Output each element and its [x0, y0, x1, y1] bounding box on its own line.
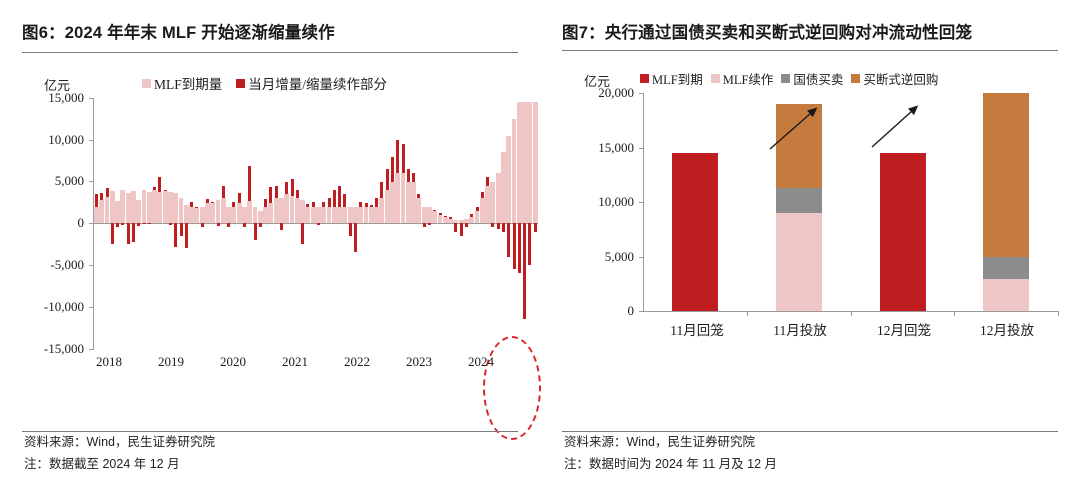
- fig6-bar-pink: [284, 194, 289, 223]
- fig6-bar-pink: [385, 190, 390, 223]
- fig7-title: 图7：央行通过国债买卖和买断式逆回购对冲流动性回笼: [562, 0, 1058, 44]
- fig6-bar-darkred: [143, 223, 146, 224]
- fig6-bar-darkred: [232, 202, 235, 207]
- fig6-bar-darkred: [412, 173, 415, 181]
- fig6-bar-darkred: [106, 188, 109, 196]
- fig6-bar-pink: [469, 217, 474, 224]
- fig6-xtick-label-5: 2023: [389, 354, 449, 370]
- fig6-bar-darkred: [333, 190, 336, 207]
- fig6-bar-pink: [422, 207, 427, 224]
- fig6-bar-pink: [321, 207, 326, 224]
- fig6-bar-pink: [237, 203, 242, 223]
- fig6-bar-pink: [300, 200, 305, 223]
- fig6-xtick-label-2: 2020: [203, 354, 263, 370]
- fig6-bar-darkred: [306, 204, 309, 207]
- fig6-bar-darkred: [486, 177, 489, 185]
- fig6-bar-darkred: [513, 223, 516, 269]
- fig7-xtick-label-2: 12月回笼: [857, 319, 951, 339]
- fig6-bar-darkred: [180, 223, 183, 236]
- fig6-bar-darkred: [428, 223, 431, 225]
- fig6-bar-pink: [332, 207, 337, 224]
- fig6-bar-darkred: [491, 223, 494, 227]
- fig6-bar-pink: [290, 196, 295, 224]
- fig6-bar-pink: [316, 207, 321, 224]
- fig6-bar-darkred: [201, 223, 204, 226]
- fig6-bar-pink: [401, 173, 406, 223]
- fig6-bar-darkred: [354, 223, 357, 252]
- fig6-bar-pink: [205, 203, 210, 223]
- fig6-bar-darkred: [386, 169, 389, 190]
- fig6-bar-pink: [311, 207, 316, 224]
- fig6-bar-pink: [416, 198, 421, 223]
- fig6-bar-pink: [443, 217, 448, 224]
- fig6-bar-pink: [522, 102, 527, 223]
- fig6-bar-darkred: [444, 216, 447, 217]
- fig6-bar-darkred: [481, 192, 484, 199]
- fig7-xtick-label-0: 11月回笼: [650, 319, 744, 339]
- fig6-bar-pink: [432, 211, 437, 224]
- fig7-footer: 资料来源：Wind，民生证券研究院 注：数据时间为 2024 年 11 月及 1…: [562, 431, 1058, 476]
- fig6-bar-darkred: [375, 198, 378, 206]
- fig6-bar-pink: [533, 102, 538, 223]
- fig6-bar-darkred: [396, 140, 399, 173]
- fig6-bar-pink: [506, 136, 511, 224]
- fig6-bar-darkred: [312, 202, 315, 206]
- fig6-bar-pink: [142, 190, 147, 223]
- fig6-xtick-label-1: 2019: [141, 354, 201, 370]
- fig6-bar-darkred: [296, 190, 299, 198]
- fig6-bar-darkred: [338, 186, 341, 207]
- fig6-bar-darkred: [132, 223, 135, 241]
- fig6-bar-pink: [120, 190, 125, 223]
- fig6-bar-pink: [242, 207, 247, 223]
- panel-fig6: 图6：2024 年年末 MLF 开始逐渐缩量续作 亿元 MLF到期量 当月增量/…: [0, 0, 540, 484]
- fig7-note: 注：数据时间为 2024 年 11 月及 12 月: [562, 454, 1058, 476]
- figure-sheet: 图6：2024 年年末 MLF 开始逐渐缩量续作 亿元 MLF到期量 当月增量/…: [0, 0, 1080, 484]
- fig6-bar-pink: [94, 207, 99, 224]
- panel-fig7: 图7：央行通过国债买卖和买断式逆回购对冲流动性回笼 亿元 MLF到期 MLF续作…: [540, 0, 1080, 484]
- fig6-bar-darkred: [439, 213, 442, 215]
- fig6-bar-pink: [200, 207, 205, 224]
- fig6-bar-darkred: [164, 190, 167, 191]
- fig6-bar-darkred: [507, 223, 510, 256]
- fig6-bar-darkred: [285, 182, 288, 195]
- fig6-bar-darkred: [407, 169, 410, 182]
- fig6-bar-darkred: [280, 223, 283, 230]
- fig6-bar-darkred: [211, 202, 214, 204]
- fig6-bar-darkred: [328, 198, 331, 206]
- fig6-bar-pink: [427, 207, 432, 224]
- fig6-bar-pink: [485, 186, 490, 224]
- fig6-bar-pink: [390, 182, 395, 224]
- fig6-bar-pink: [268, 203, 273, 223]
- fig6-note: 注：数据截至 2024 年 12 月: [22, 454, 518, 476]
- fig6-bar-darkred: [248, 166, 251, 201]
- fig6-bar-pink: [258, 211, 263, 224]
- fig6-bar-darkred: [264, 199, 267, 207]
- fig6-bar-pink: [490, 182, 495, 224]
- fig6-bar-darkred: [322, 202, 325, 206]
- fig6-bar-darkred: [222, 186, 225, 199]
- fig6-bar-darkred: [476, 207, 479, 211]
- fig6-bar-pink: [253, 207, 258, 224]
- fig6-bar-pink: [184, 205, 189, 223]
- fig6-bar-pink: [231, 207, 236, 224]
- fig6-bar-pink: [131, 191, 136, 224]
- fig6-bar-darkred: [370, 205, 373, 207]
- fig7-chart: 亿元 MLF到期 MLF续作 国债买卖 买断式逆回购: [562, 51, 1058, 391]
- fig6-bar-pink: [168, 192, 173, 223]
- fig6-bar-pink: [274, 198, 279, 223]
- fig6-bar-darkred: [465, 223, 468, 227]
- fig6-bar-darkred: [534, 223, 537, 231]
- fig7-xtick-label-3: 12月投放: [960, 319, 1054, 339]
- fig6-bar-pink: [305, 207, 310, 224]
- fig6-bar-pink: [448, 219, 453, 223]
- fig6-bar-darkred: [470, 214, 473, 217]
- fig6-title: 图6：2024 年年末 MLF 开始逐渐缩量续作: [22, 0, 518, 44]
- fig6-bar-darkred: [127, 223, 130, 244]
- fig6-bar-pink: [406, 182, 411, 224]
- fig6-bar-darkred: [206, 199, 209, 203]
- fig6-bar-pink: [126, 193, 131, 223]
- fig6-bar-darkred: [121, 223, 124, 225]
- fig6-bar-darkred: [433, 210, 436, 211]
- fig6-bar-pink: [512, 119, 517, 223]
- fig6-bar-darkred: [380, 182, 383, 199]
- fig7-source: 资料来源：Wind，民生证券研究院: [562, 432, 1058, 454]
- fig6-bar-darkred: [523, 223, 526, 319]
- fig6-chart: 亿元 MLF到期量 当月增量/缩量续作部分: [22, 53, 518, 393]
- fig6-bar-darkred: [169, 223, 172, 225]
- fig6-bar-pink: [369, 207, 374, 224]
- fig6-bar-darkred: [153, 187, 156, 190]
- fig6-bar-darkred: [148, 223, 151, 224]
- fig6-bar-pink: [115, 201, 120, 224]
- fig6-bar-pink: [173, 193, 178, 223]
- fig6-bar-pink: [517, 102, 522, 223]
- fig6-bar-pink: [263, 207, 268, 224]
- fig6-bar-darkred: [391, 157, 394, 182]
- fig6-xtick-label-6: 2024: [451, 354, 511, 370]
- fig6-bar-darkred: [254, 223, 257, 240]
- fig6-bar-pink: [179, 198, 184, 223]
- fig6-bar-pink: [358, 207, 363, 224]
- fig6-bar-pink: [221, 198, 226, 223]
- fig6-bar-pink: [342, 207, 347, 224]
- fig6-bar-darkred: [454, 223, 457, 231]
- fig6-bar-darkred: [275, 186, 278, 199]
- fig6-bar-pink: [279, 198, 284, 223]
- fig6-bar-darkred: [518, 223, 521, 273]
- fig6-bar-pink: [189, 207, 194, 223]
- fig6-bar-darkred: [502, 223, 505, 231]
- fig6-bar-darkred: [417, 194, 420, 198]
- fig6-bar-darkred: [497, 223, 500, 229]
- fig6-bar-pink: [105, 197, 110, 224]
- fig6-bar-pink: [226, 207, 231, 224]
- fig6-footer: 资料来源：Wind，民生证券研究院 注：数据截至 2024 年 12 月: [22, 431, 518, 476]
- fig6-highlight-ellipse: [483, 336, 541, 440]
- fig6-bar-pink: [438, 215, 443, 223]
- fig6-source: 资料来源：Wind，民生证券研究院: [22, 432, 518, 454]
- fig6-bar-pink: [374, 207, 379, 224]
- fig7-plot-area: 20,000 15,000 10,000 5,000 0: [562, 51, 1062, 371]
- fig6-bar-pink: [216, 200, 221, 223]
- fig6-bar-darkred: [174, 223, 177, 246]
- fig6-bar-darkred: [111, 223, 114, 244]
- fig6-bar-darkred: [402, 144, 405, 173]
- fig6-bar-pink: [527, 102, 532, 223]
- fig6-bar-pink: [210, 203, 215, 223]
- fig6-bar-pink: [364, 207, 369, 224]
- fig6-bar-darkred: [343, 194, 346, 207]
- fig6-bar-pink: [501, 152, 506, 223]
- fig6-bar-pink: [411, 182, 416, 224]
- fig6-bar-darkred: [317, 223, 320, 225]
- fig6-bar-darkred: [359, 202, 362, 206]
- fig6-bar-pink: [163, 191, 168, 224]
- fig6-xtick-label-3: 2021: [265, 354, 325, 370]
- fig6-bar-pink: [99, 200, 104, 223]
- fig6-bar-darkred: [528, 223, 531, 265]
- fig6-xtick-label-0: 2018: [79, 354, 139, 370]
- fig6-bar-darkred: [217, 223, 220, 226]
- fig6-bar-darkred: [116, 223, 119, 227]
- fig7-xtick-label-1: 11月投放: [753, 319, 847, 339]
- fig6-bar-darkred: [137, 223, 140, 226]
- fig6-bar-darkred: [269, 187, 272, 204]
- fig6-bar-darkred: [195, 207, 198, 208]
- fig6-bar-pink: [475, 211, 480, 224]
- fig6-bar-darkred: [227, 223, 230, 227]
- fig6-bar-darkred: [100, 193, 103, 200]
- fig6-xtick-label-4: 2022: [327, 354, 387, 370]
- fig6-bar-pink: [110, 191, 115, 224]
- fig6-bar-pink: [157, 192, 162, 223]
- fig6-bar-pink: [480, 198, 485, 223]
- fig6-bar-darkred: [301, 223, 304, 244]
- fig6-bar-darkred: [259, 223, 262, 226]
- fig6-bar-pink: [247, 201, 252, 224]
- fig6-bar-darkred: [158, 177, 161, 192]
- fig6-bar-darkred: [460, 223, 463, 236]
- fig6-bar-darkred: [365, 203, 368, 206]
- fig6-bar-darkred: [238, 193, 241, 203]
- fig6-bar-darkred: [291, 179, 294, 196]
- fig6-bar-pink: [147, 192, 152, 224]
- fig6-bar-pink: [194, 208, 199, 223]
- fig6-bar-darkred: [349, 223, 352, 236]
- fig6-bar-darkred: [423, 223, 426, 227]
- fig6-bar-pink: [136, 200, 141, 223]
- fig6-bar-pink: [337, 207, 342, 224]
- fig7-arrow-dec: [872, 111, 912, 147]
- fig6-bar-pink: [327, 207, 332, 224]
- fig6-bar-pink: [295, 198, 300, 223]
- fig6-bar-pink: [379, 198, 384, 223]
- fig6-plot-area: 15,000 10,000 5,000 0 -5,000 -10,000 -15…: [22, 53, 540, 373]
- fig6-bar-darkred: [95, 194, 98, 207]
- fig6-bar-pink: [348, 207, 353, 224]
- fig6-bar-group: [22, 53, 540, 373]
- fig6-bar-darkred: [185, 223, 188, 248]
- fig6-bar-darkred: [190, 202, 193, 207]
- fig6-bar-pink: [395, 173, 400, 223]
- fig6-bar-pink: [152, 190, 157, 223]
- fig6-bar-pink: [496, 173, 501, 223]
- fig7-arrow-nov: [770, 113, 811, 149]
- fig6-bar-darkred: [449, 217, 452, 219]
- fig6-bar-pink: [353, 207, 358, 224]
- fig6-bar-darkred: [243, 223, 246, 227]
